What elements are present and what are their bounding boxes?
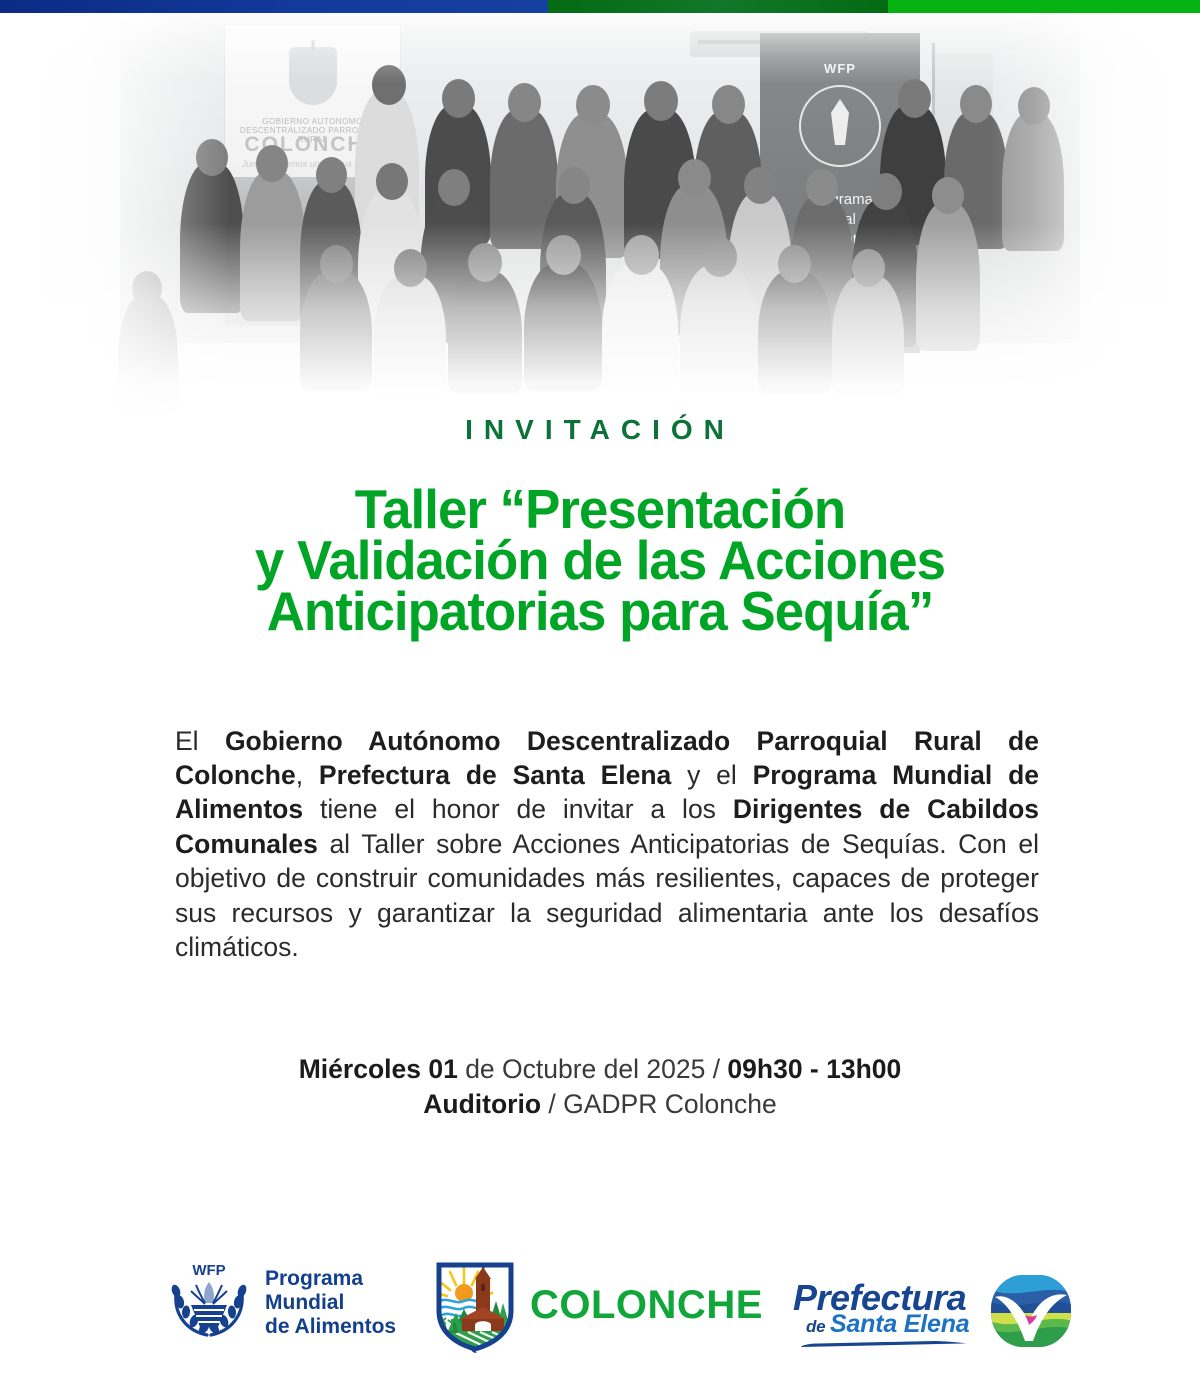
wfp-emblem-icon: WFP [163,1261,255,1345]
title-line-3: Anticipatorias para Sequía” [24,586,1176,637]
event-details: Miércoles 01 de Octubre del 2025 / 09h30… [0,1052,1200,1122]
logo-prefectura: Prefectura de Santa Elena [793,1271,1073,1351]
wfp-wordmark: Programa Mundial de Alimentos [265,1267,396,1338]
event-place-line: Auditorio / GADPR Colonche [0,1087,1200,1122]
event-place-bold: Auditorio [423,1089,541,1119]
body-paragraph: El Gobierno Autónomo Descentralizado Par… [175,724,1039,965]
page-title: Taller “Presentación y Validación de las… [24,484,1176,637]
prefectura-swoosh [801,1340,979,1347]
wfp-wordmark-line3: de Alimentos [265,1315,396,1339]
event-place-rest: / GADPR Colonche [541,1089,777,1119]
top-color-bar [0,0,1200,13]
prefectura-wordmark: Prefectura de Santa Elena [793,1277,983,1345]
logo-wfp: WFP [163,1261,396,1345]
topbar-segment-green [888,0,1200,13]
topbar-segment-blue [0,0,548,13]
hero-photo: GOBIERNO AUTONOMO DESCENTRALIZADO PARROQ… [0,13,1200,423]
prefectura-emblem-icon [989,1271,1073,1351]
prefectura-santa-elena: Santa Elena [830,1310,970,1338]
event-date-line: Miércoles 01 de Octubre del 2025 / 09h30… [0,1052,1200,1087]
svg-text:WFP: WFP [192,1262,225,1279]
logo-row: WFP [0,1255,1200,1370]
event-date-bold: Miércoles 01 [299,1054,458,1084]
body-bold-prefectura: Prefectura de Santa Elena [319,760,671,790]
title-line-2: y Validación de las Acciones [24,535,1176,586]
title-line-1: Taller “Presentación [24,484,1176,535]
colonche-wordmark: COLONCHE [530,1283,763,1328]
kicker-invitacion: INVITACIÓN [0,414,1200,446]
group-photo-image: GOBIERNO AUTONOMO DESCENTRALIZADO PARROQ… [0,13,1200,423]
logo-colonche: COLONCHE [432,1257,763,1353]
event-time: 09h30 - 13h00 [727,1054,901,1084]
colonche-shield-icon [432,1257,518,1353]
body-mid-2: y el [671,760,752,790]
topbar-segment-dark-green [548,0,888,13]
wfp-wordmark-line2: Mundial [265,1291,396,1315]
body-mid-3: tiene el honor de invitar a los [303,794,733,824]
wfp-wordmark-line1: Programa [265,1267,396,1291]
prefectura-line2: de Santa Elena [806,1310,970,1339]
event-date-rest: de Octubre del 2025 / [458,1054,728,1084]
invitation-poster: GOBIERNO AUTONOMO DESCENTRALIZADO PARROQ… [0,0,1200,1400]
prefectura-de: de [806,1317,830,1336]
body-mid-1: , [296,760,319,790]
body-pre: El [175,726,225,756]
